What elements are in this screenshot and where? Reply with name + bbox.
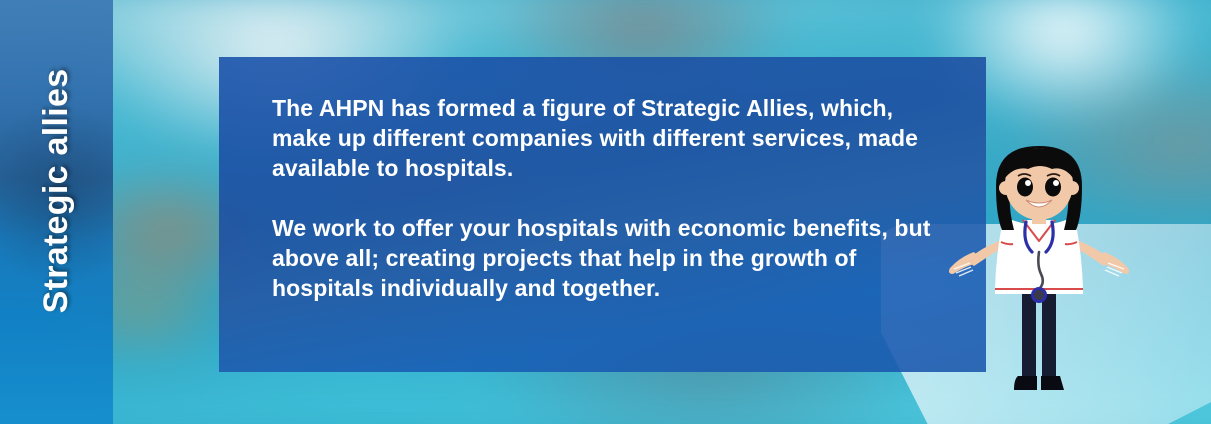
section-title-vertical: Strategic allies: [0, 0, 113, 424]
paragraph-1: The AHPN has formed a figure of Strategi…: [272, 93, 946, 183]
shoes: [1014, 376, 1064, 390]
strategic-allies-banner: Strategic allies The AHPN has formed a f…: [0, 0, 1211, 424]
nurse-illustration: [944, 138, 1134, 408]
paragraph-2: We work to offer your hospitals with eco…: [272, 213, 946, 303]
text-panel: The AHPN has formed a figure of Strategi…: [219, 57, 986, 372]
section-title-text: Strategic allies: [37, 69, 76, 356]
